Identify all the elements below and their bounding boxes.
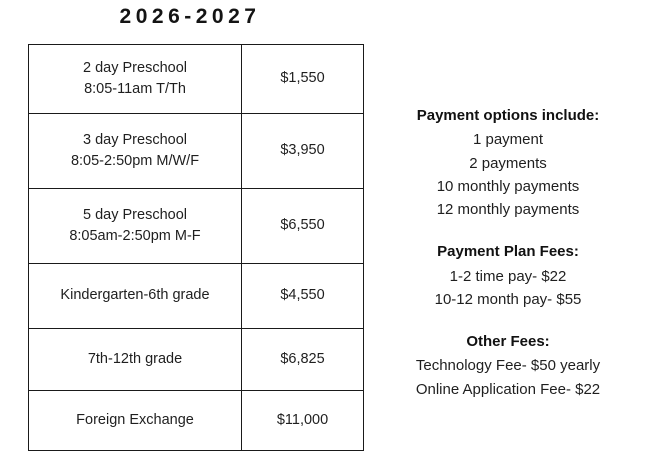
payment-options-line: 10 monthly payments <box>372 175 644 198</box>
program-cell: 2 day Preschool 8:05-11am T/Th <box>29 45 242 114</box>
price-cell: $6,550 <box>242 189 364 264</box>
program-name: 7th-12th grade <box>33 349 237 370</box>
table-row: Kindergarten-6th grade $4,550 <box>29 264 364 329</box>
price-cell: $11,000 <box>242 391 364 451</box>
program-cell: 5 day Preschool 8:05am-2:50pm M-F <box>29 189 242 264</box>
program-name: 5 day Preschool <box>33 205 237 226</box>
program-cell: 3 day Preschool 8:05-2:50pm M/W/F <box>29 114 242 189</box>
program-cell: 7th-12th grade <box>29 329 242 391</box>
other-fees-line: Online Application Fee- $22 <box>372 378 644 401</box>
payment-options-line: 1 payment <box>372 128 644 151</box>
price-cell: $1,550 <box>242 45 364 114</box>
price-cell: $6,825 <box>242 329 364 391</box>
payment-options-block: Payment options include: 1 payment 2 pay… <box>372 104 644 221</box>
payment-options-heading: Payment options include: <box>372 104 644 127</box>
program-schedule: 8:05am-2:50pm M-F <box>33 226 237 247</box>
payment-options-line: 12 monthly payments <box>372 198 644 221</box>
table-row: 3 day Preschool 8:05-2:50pm M/W/F $3,950 <box>29 114 364 189</box>
program-cell: Kindergarten-6th grade <box>29 264 242 329</box>
price-cell: $4,550 <box>242 264 364 329</box>
payment-plan-fees-line: 1-2 time pay- $22 <box>372 265 644 288</box>
page-title: 2026-2027 <box>0 5 380 29</box>
price-cell: $3,950 <box>242 114 364 189</box>
payment-plan-fees-line: 10-12 month pay- $55 <box>372 288 644 311</box>
program-schedule: 8:05-2:50pm M/W/F <box>33 151 237 172</box>
payment-options-line: 2 payments <box>372 152 644 175</box>
payment-plan-fees-block: Payment Plan Fees: 1-2 time pay- $22 10-… <box>372 240 644 311</box>
other-fees-block: Other Fees: Technology Fee- $50 yearly O… <box>372 330 644 401</box>
table-row: Foreign Exchange $11,000 <box>29 391 364 451</box>
table-row: 7th-12th grade $6,825 <box>29 329 364 391</box>
program-schedule: 8:05-11am T/Th <box>33 79 237 100</box>
program-name: Foreign Exchange <box>33 410 237 431</box>
tuition-table: 2 day Preschool 8:05-11am T/Th $1,550 3 … <box>28 44 364 451</box>
program-cell: Foreign Exchange <box>29 391 242 451</box>
table-row: 2 day Preschool 8:05-11am T/Th $1,550 <box>29 45 364 114</box>
payment-plan-fees-heading: Payment Plan Fees: <box>372 240 644 263</box>
other-fees-heading: Other Fees: <box>372 330 644 353</box>
program-name: 2 day Preschool <box>33 58 237 79</box>
table-row: 5 day Preschool 8:05am-2:50pm M-F $6,550 <box>29 189 364 264</box>
program-name: Kindergarten-6th grade <box>33 285 237 306</box>
fees-info-panel: Payment options include: 1 payment 2 pay… <box>372 104 644 401</box>
program-name: 3 day Preschool <box>33 130 237 151</box>
other-fees-line: Technology Fee- $50 yearly <box>372 354 644 377</box>
